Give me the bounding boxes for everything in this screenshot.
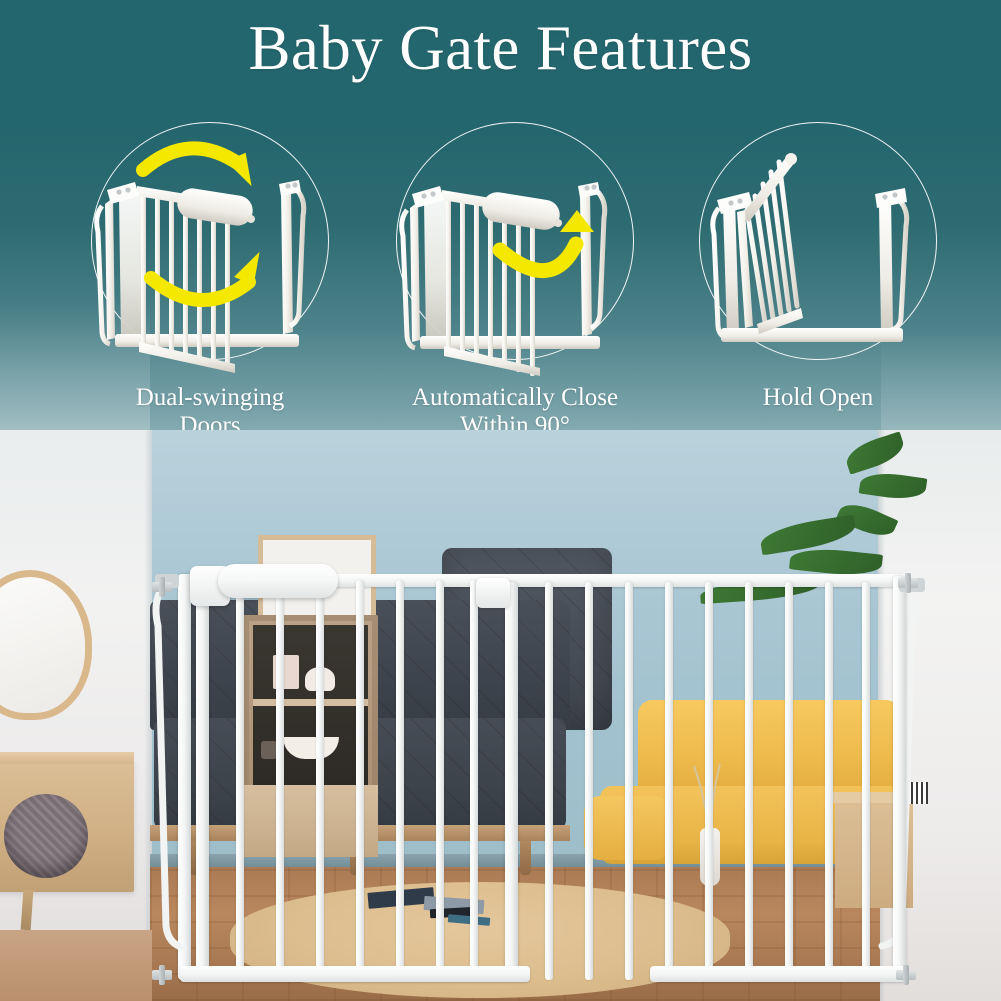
gate-mounting-bolt [898, 578, 918, 588]
gate-mounting-bolt [896, 970, 916, 980]
room-scene-photo [0, 430, 1001, 1001]
gate-auto-close-icon [390, 126, 640, 376]
gate-door-hinge-post [196, 580, 209, 978]
gate-dual-swing-icon [85, 126, 335, 376]
feature-caption-line-1: Hold Open [763, 384, 873, 411]
feature-caption-line-1: Automatically Close [412, 384, 618, 411]
gate-latch-catch [476, 578, 510, 608]
gate-right-pressure-arm [848, 574, 918, 986]
dual-swinging-doors-illustration [85, 126, 335, 376]
infographic-canvas: Baby Gate Features [0, 0, 1001, 1001]
gate-door-latch-post [505, 582, 518, 978]
gate-hold-open-icon [693, 126, 943, 376]
gate-bottom-sill-right [650, 966, 908, 982]
page-title: Baby Gate Features [0, 12, 1001, 85]
feature-caption: Hold Open [668, 384, 968, 412]
gate-mounting-bolt [152, 582, 172, 592]
gate-door-bottom-sill [180, 966, 530, 982]
installed-baby-gate [0, 430, 1001, 1001]
gate-right-post [893, 576, 906, 980]
feature-caption-line-1: Dual-swinging [136, 384, 285, 411]
hold-open-illustration [693, 126, 943, 376]
gate-handle[interactable] [218, 564, 338, 598]
feature-list: Dual-swinging Doors [0, 122, 1001, 462]
automatically-close-illustration [390, 126, 640, 376]
gate-mounting-bolt [152, 970, 172, 980]
